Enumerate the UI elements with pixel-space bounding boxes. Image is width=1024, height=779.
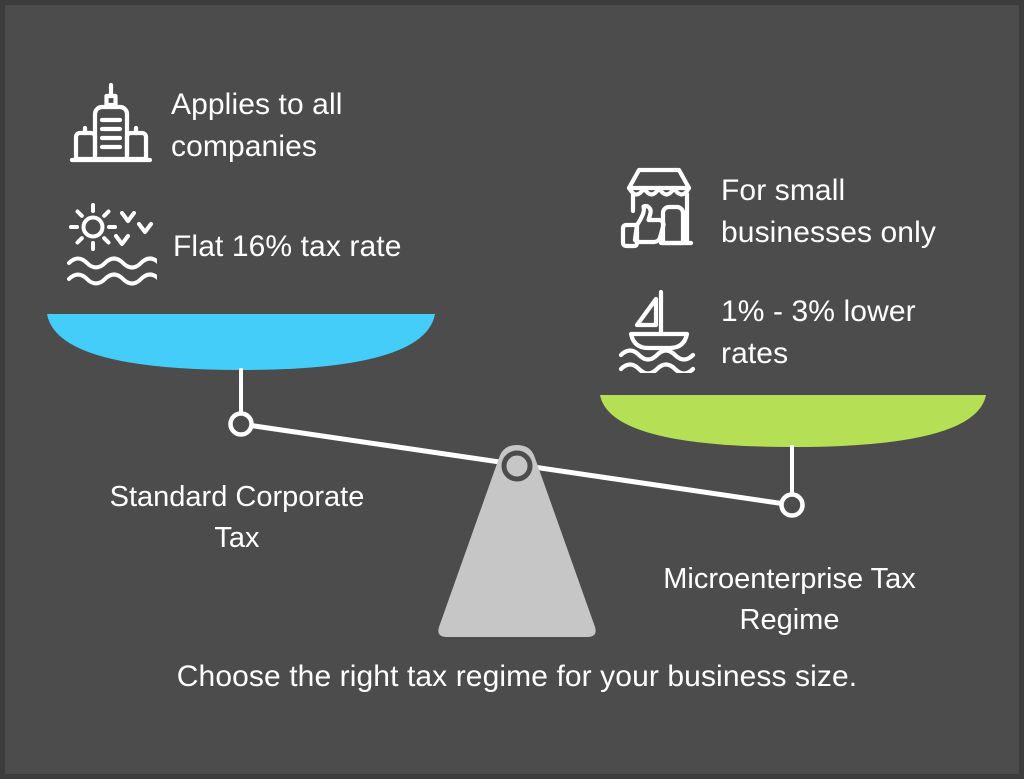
feature-applies-to-all-companies: Applies to all companies — [69, 81, 469, 172]
shop-thumbs-up-icon — [615, 163, 703, 260]
feature-small-businesses-only: For small businesses only — [615, 163, 1015, 260]
feature-label: Flat 16% tax rate — [173, 226, 401, 267]
office-buildings-icon — [69, 81, 153, 172]
bottom-caption: Choose the right tax regime for your bus… — [5, 660, 1024, 694]
pivot-ring — [504, 453, 530, 479]
feature-label: 1% - 3% lower rates — [721, 291, 916, 374]
feature-label: For small businesses only — [721, 170, 936, 253]
left-pan-blue — [47, 314, 435, 370]
sailboat-waves-icon — [615, 287, 703, 378]
sun-birds-waves-icon — [65, 197, 157, 296]
left-pan-label: Standard Corporate Tax — [67, 477, 407, 559]
right-pan-green — [600, 395, 986, 447]
feature-label: Applies to all companies — [171, 84, 343, 167]
fulcrum-stand — [438, 445, 595, 637]
left-pivot-knob — [231, 414, 252, 435]
right-pivot-knob — [782, 495, 803, 516]
feature-flat-tax-rate: Flat 16% tax rate — [65, 197, 465, 296]
right-pan-label: Microenterprise Tax Regime — [617, 559, 962, 641]
feature-lower-rates: 1% - 3% lower rates — [615, 287, 1015, 378]
infographic-canvas: Applies to all companies — [0, 0, 1024, 779]
